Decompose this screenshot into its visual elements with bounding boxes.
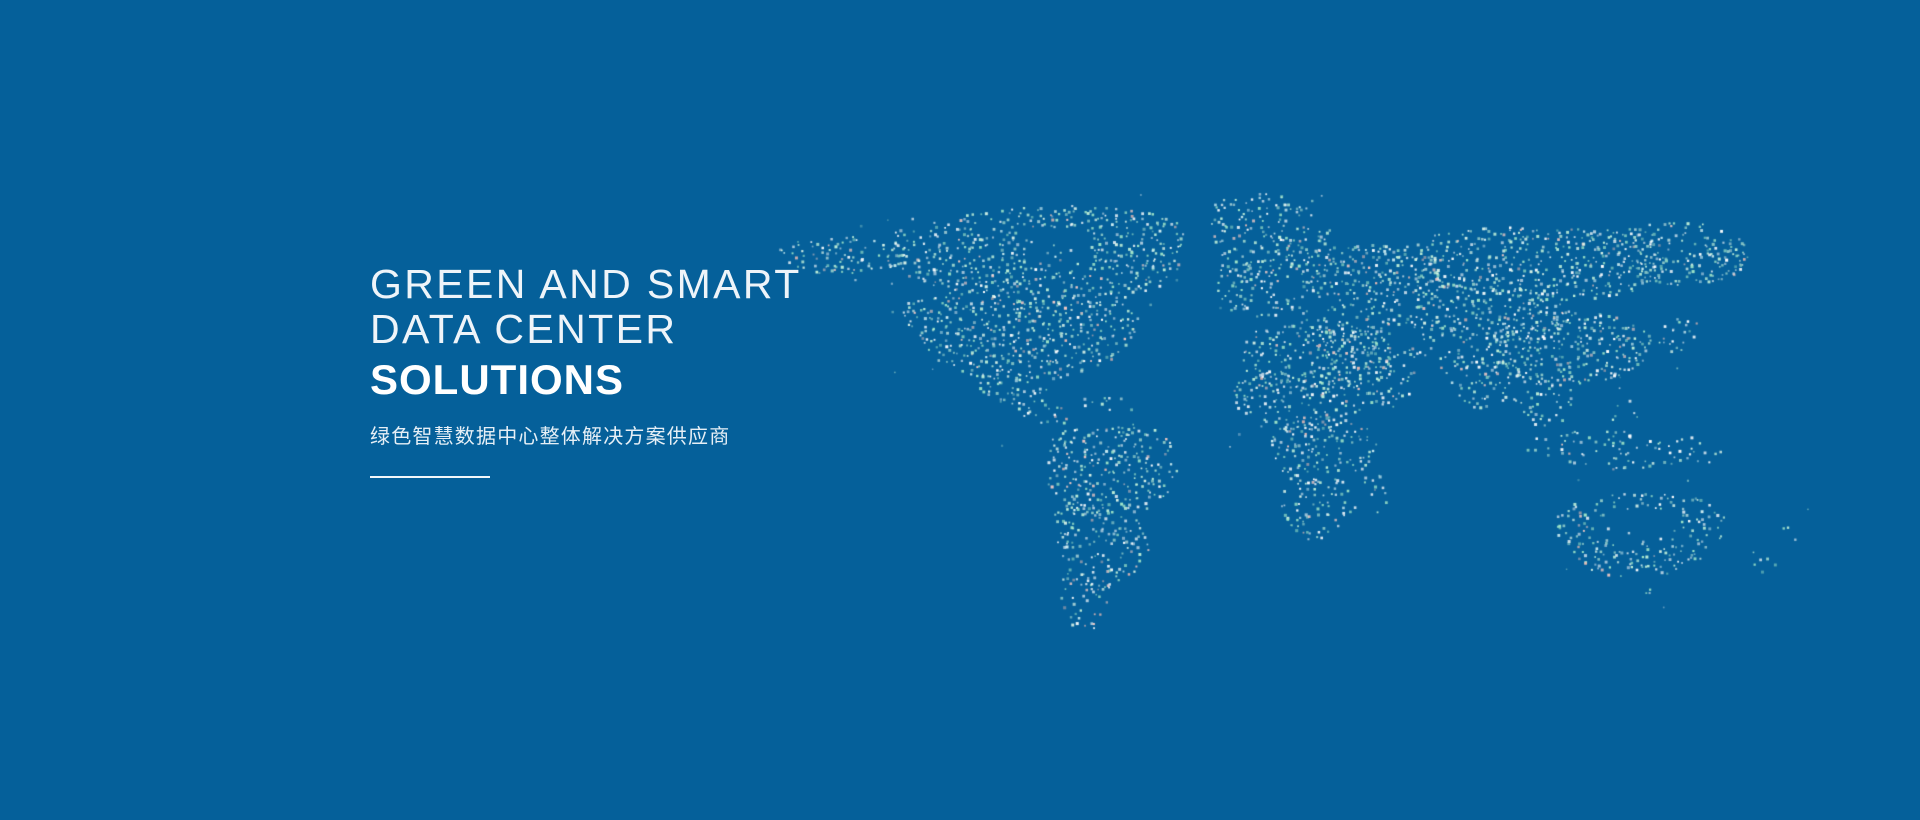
hero-subtitle: 绿色智慧数据中心整体解决方案供应商: [370, 424, 1070, 450]
headline-line-3: SOLUTIONS: [370, 354, 1070, 406]
hero-banner: GREEN AND SMART DATA CENTER SOLUTIONS 绿色…: [0, 0, 1920, 820]
divider-rule: [370, 476, 490, 478]
headline-line-2: DATA CENTER: [370, 307, 1070, 352]
headline-line-1: GREEN AND SMART: [370, 262, 1070, 307]
hero-text-block: GREEN AND SMART DATA CENTER SOLUTIONS 绿色…: [370, 262, 1070, 478]
